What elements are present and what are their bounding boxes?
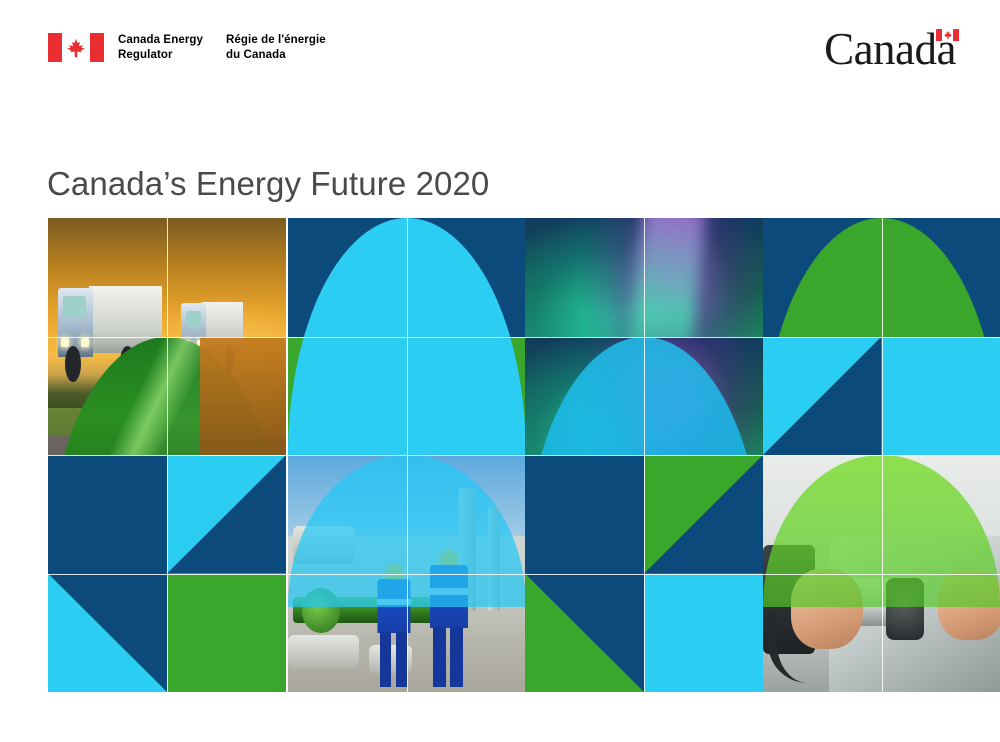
page-title: Canada’s Energy Future 2020 bbox=[47, 163, 489, 205]
mosaic-cell bbox=[48, 455, 167, 574]
mosaic-block-abstract-green-cyan bbox=[763, 218, 1000, 692]
mosaic-block-transport bbox=[48, 218, 286, 692]
cover-image-mosaic bbox=[48, 218, 1000, 692]
mosaic-block-abstract-blue-green bbox=[288, 218, 526, 692]
canada-flag-icon bbox=[936, 29, 959, 41]
green-tint-arch-overlay bbox=[763, 455, 1000, 692]
mosaic-cell bbox=[644, 455, 763, 574]
canada-wordmark: Canada bbox=[824, 26, 956, 72]
government-of-canada-signature: Canada Energy Regulator Régie de l'énerg… bbox=[48, 33, 326, 62]
signature-text-french: Régie de l'énergie du Canada bbox=[226, 33, 326, 62]
mosaic-cell bbox=[525, 574, 644, 693]
mosaic-cell bbox=[644, 574, 763, 693]
signature-fr-line1: Régie de l'énergie bbox=[226, 33, 326, 48]
block-cells bbox=[48, 218, 286, 692]
ev-photo-panel bbox=[763, 455, 1000, 692]
mosaic-cell bbox=[48, 574, 167, 693]
signature-text-english: Canada Energy Regulator bbox=[118, 33, 226, 62]
mosaic-cell bbox=[525, 455, 644, 574]
cyan-tint-arch-overlay bbox=[288, 455, 526, 692]
signature-fr-line2: du Canada bbox=[226, 48, 326, 63]
signature-en-line1: Canada Energy bbox=[118, 33, 226, 48]
mosaic-block-winter-aurora bbox=[525, 218, 763, 692]
cyan-arch-shape bbox=[288, 218, 526, 455]
mosaic-cell bbox=[882, 337, 1000, 456]
page-header: Canada Energy Regulator Régie de l'énerg… bbox=[0, 0, 1000, 100]
mosaic-cell bbox=[167, 455, 286, 574]
block-cells bbox=[525, 218, 763, 692]
mosaic-cell bbox=[763, 337, 882, 456]
mosaic-cell bbox=[167, 574, 286, 693]
refinery-photo-panel bbox=[288, 455, 526, 692]
signature-en-line2: Regulator bbox=[118, 48, 226, 63]
canada-flag-icon bbox=[48, 33, 104, 62]
